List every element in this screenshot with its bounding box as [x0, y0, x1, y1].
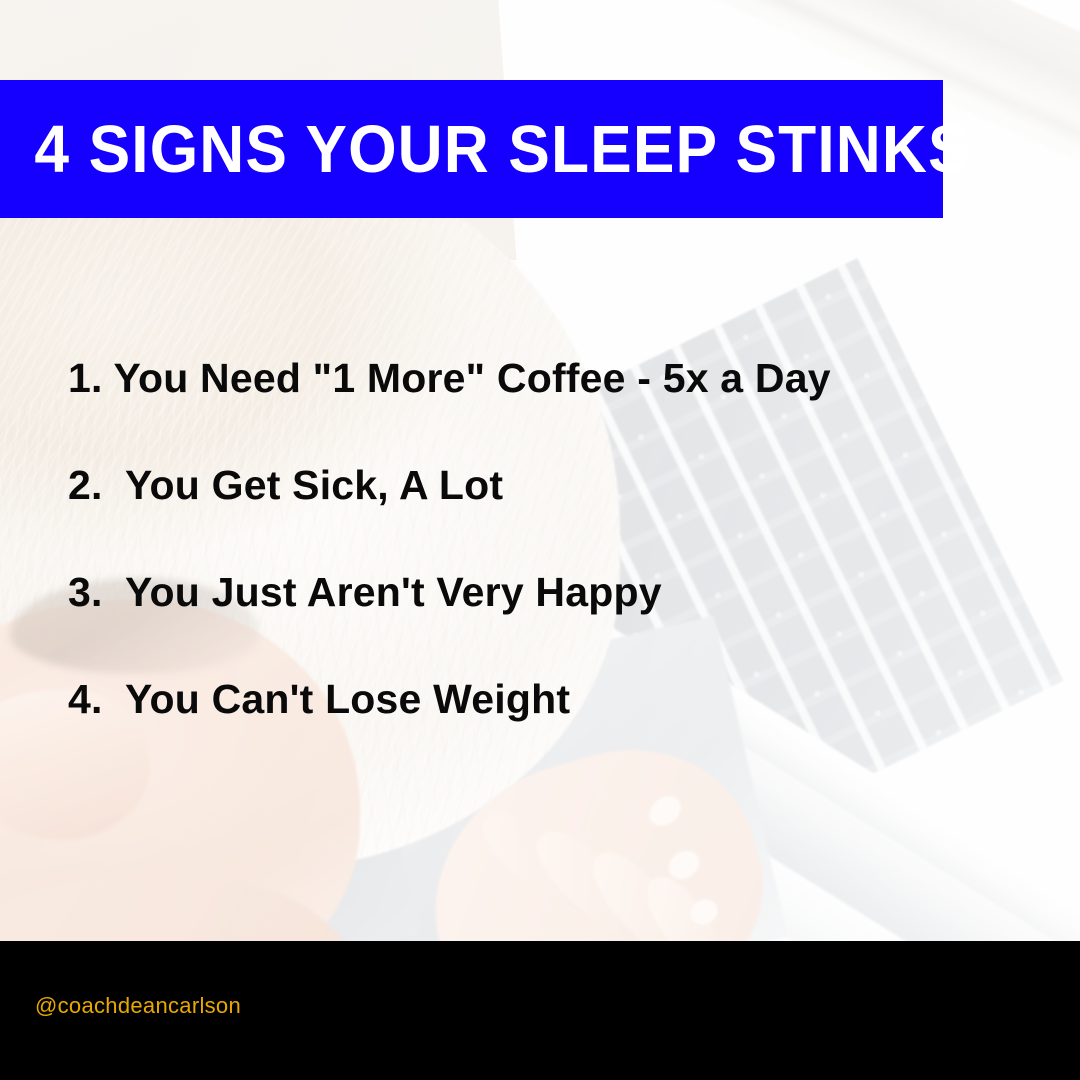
- list-item: 4. You Can't Lose Weight: [68, 679, 1058, 720]
- list-item: 3. You Just Aren't Very Happy: [68, 572, 1058, 613]
- social-handle: @coachdeancarlson: [35, 993, 241, 1019]
- title-banner: 4 SIGNS YOUR SLEEP STINKS: [0, 80, 943, 218]
- footer-bar: @coachdeancarlson: [0, 941, 1080, 1080]
- poster: 4 SIGNS YOUR SLEEP STINKS 1. You Need "1…: [0, 0, 1080, 1080]
- signs-list: 1. You Need "1 More" Coffee - 5x a Day 2…: [68, 358, 1058, 720]
- list-item: 2. You Get Sick, A Lot: [68, 465, 1058, 506]
- page-title: 4 SIGNS YOUR SLEEP STINKS: [0, 116, 971, 183]
- list-item: 1. You Need "1 More" Coffee - 5x a Day: [68, 358, 1058, 399]
